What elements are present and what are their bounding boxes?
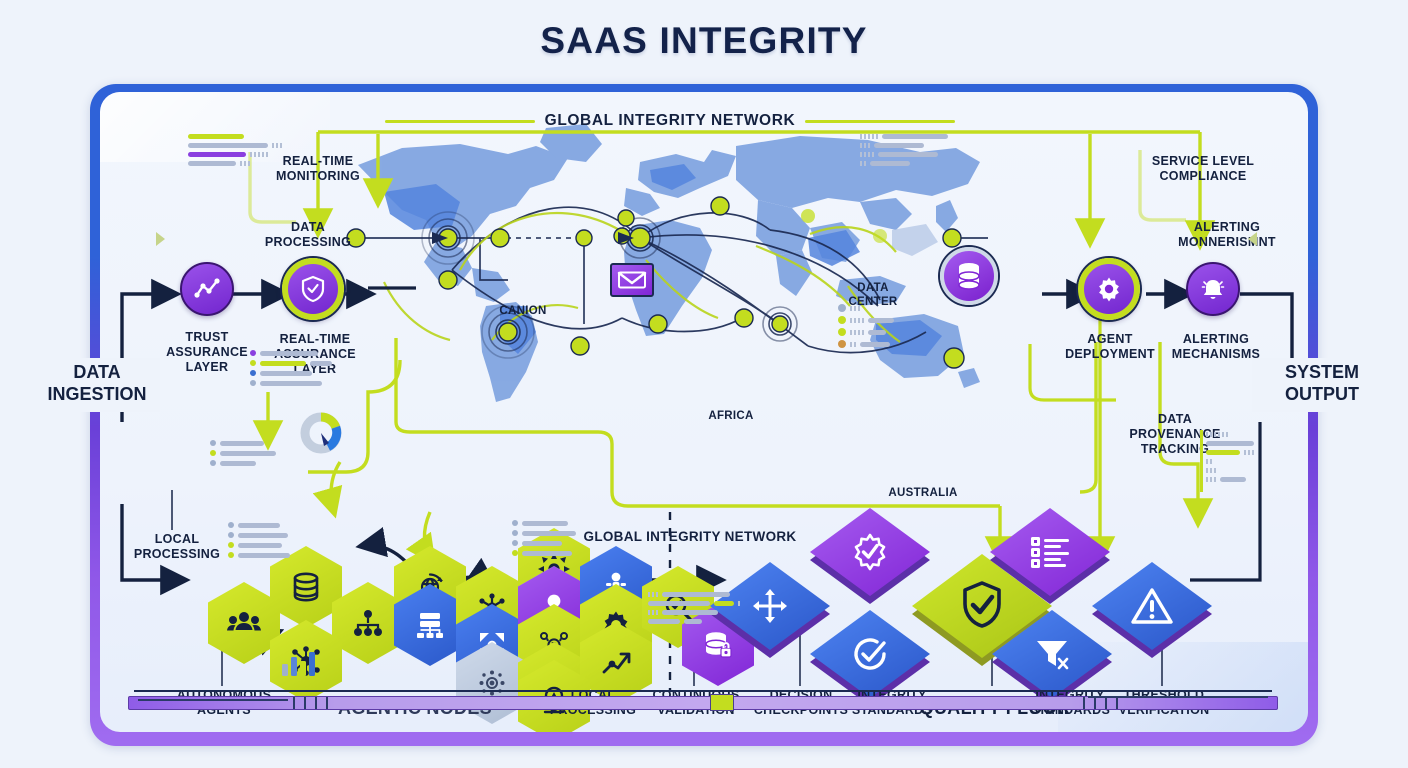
frame-inner-panel: GLOBAL INTEGRITY NETWORK CANION DATA CEN… [100, 92, 1308, 732]
widget-left-legend-bars [250, 350, 332, 390]
trend-up-icon [601, 650, 631, 676]
bottom-ticks-left [293, 697, 328, 709]
line-chart-icon [193, 277, 221, 301]
widget-quality-floor-bars [648, 592, 740, 628]
left-rail-label: DATA INGESTION [34, 362, 160, 405]
four-arrows-icon [750, 586, 790, 626]
shield-check-icon [300, 275, 326, 303]
hex-users-group[interactable] [208, 582, 280, 664]
gear-icon [1096, 276, 1122, 302]
gear-check-icon [850, 532, 890, 572]
triangle-pointer-right [1248, 232, 1257, 246]
node-real-time-assurance-layer[interactable] [282, 258, 344, 320]
tile-face [1092, 562, 1212, 650]
map-label-africa: AFRICA [686, 410, 776, 424]
bottom-hairline-left [138, 699, 288, 701]
device-frame: GLOBAL INTEGRITY NETWORK CANION DATA CEN… [90, 84, 1318, 746]
checklist-icon [1029, 535, 1071, 569]
widget-center-bars [512, 520, 576, 560]
donut-chart-icon [298, 410, 344, 456]
mini-bar-chart-widget [280, 648, 320, 676]
envelope-icon [610, 263, 654, 297]
funnel-icon [1033, 635, 1071, 673]
map-header-rule-right [805, 120, 955, 123]
hex-hierarchy[interactable] [332, 582, 404, 664]
node-trust-assurance-layer[interactable] [180, 262, 234, 316]
bar-chart-icon [280, 648, 320, 676]
widget-right-edge-bars [1206, 432, 1254, 486]
right-rail-label: SYSTEM OUTPUT [1252, 362, 1392, 405]
agentic-node-cluster [120, 462, 680, 702]
donut-chart-widget [298, 410, 344, 456]
widget-top-left-bars [188, 134, 282, 170]
map-header: GLOBAL INTEGRITY NETWORK [340, 112, 1000, 130]
node-alerting-mechanisms[interactable] [1186, 262, 1240, 316]
server-rack-icon [415, 611, 445, 639]
page-title: SAAS INTEGRITY [0, 20, 1408, 62]
warning-triangle-icon [1131, 587, 1173, 625]
quality-floor-cluster [710, 492, 1290, 692]
callout-alerting-monnerismnt: ALERTING MONNERISMNT [1132, 220, 1308, 250]
widget-map-right-legend [838, 304, 894, 352]
database-icon [292, 572, 320, 602]
node-agent-deployment[interactable] [1078, 258, 1140, 320]
bottom-hairline [134, 690, 1272, 692]
database-stack-icon [940, 247, 998, 305]
map-header-label: GLOBAL INTEGRITY NETWORK [545, 112, 796, 130]
infographic-canvas: SAAS INTEGRITY [0, 0, 1408, 768]
hierarchy-icon [353, 609, 383, 637]
circle-check-icon [851, 635, 889, 673]
widget-left-mid-bars [210, 440, 276, 470]
callout-data-processing: DATA PROCESSING [218, 220, 398, 250]
bottom-accent-block [710, 694, 734, 711]
callout-local-processing-left: LOCAL PROCESSING [114, 532, 240, 562]
device-bottom-strip [128, 690, 1278, 712]
tile-threshold-verification[interactable] [1092, 562, 1212, 658]
map-label-canion: CANION [478, 305, 568, 319]
widget-top-right-bars [860, 134, 948, 170]
bottom-ticks-right [1083, 697, 1118, 709]
widget-right-edge-accent [1200, 430, 1203, 492]
users-group-icon [227, 610, 261, 636]
triangle-pointer-left [156, 232, 165, 246]
node-trust-assurance-layer-label: TRUST ASSURANCE LAYER [147, 330, 267, 374]
bell-icon [1199, 276, 1227, 302]
widget-hexcluster-bars [228, 522, 290, 562]
map-header-rule-left [385, 120, 535, 123]
callout-service-level-compliance: SERVICE LEVEL COMPLIANCE [1108, 154, 1298, 184]
